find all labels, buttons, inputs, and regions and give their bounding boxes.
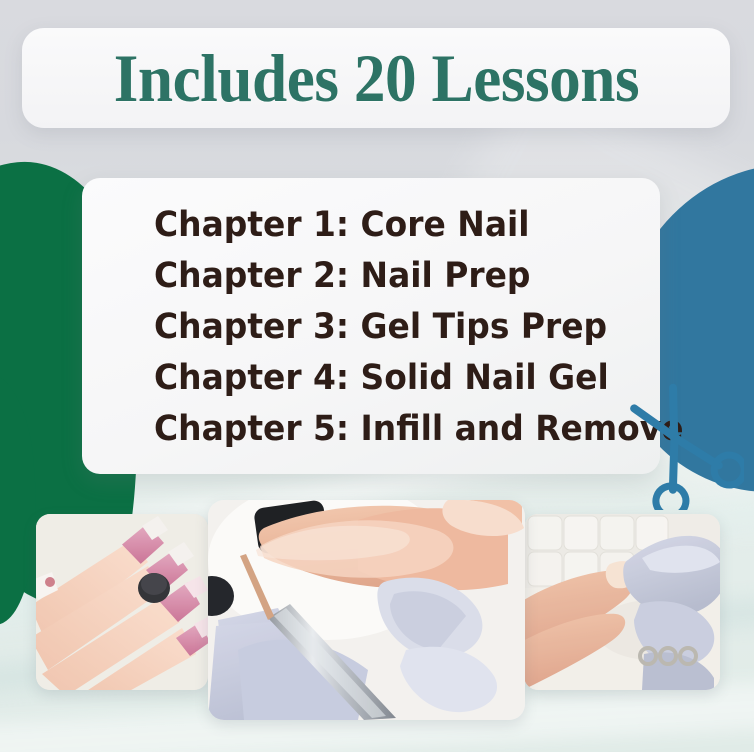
nail-tips-photo [524, 514, 720, 690]
poster-canvas: Includes 20 Lessons Chapter 1: Core Nail… [0, 0, 754, 752]
chapters-card: Chapter 1: Core Nail Chapter 2: Nail Pre… [82, 178, 660, 474]
list-item: Chapter 3: Gel Tips Prep [154, 302, 620, 353]
list-item: Chapter 2: Nail Prep [154, 251, 620, 302]
gel-application-photo [208, 500, 525, 720]
list-item: Chapter 5: Infill and Remove [154, 404, 620, 455]
page-title: Includes 20 Lessons [113, 44, 638, 112]
scissors-icon [612, 378, 744, 510]
header-card: Includes 20 Lessons [22, 28, 730, 128]
chapter-list: Chapter 1: Core Nail Chapter 2: Nail Pre… [154, 200, 650, 455]
pink-ombre-nails-photo [36, 514, 208, 690]
list-item: Chapter 1: Core Nail [154, 200, 620, 251]
list-item: Chapter 4: Solid Nail Gel [154, 353, 620, 404]
